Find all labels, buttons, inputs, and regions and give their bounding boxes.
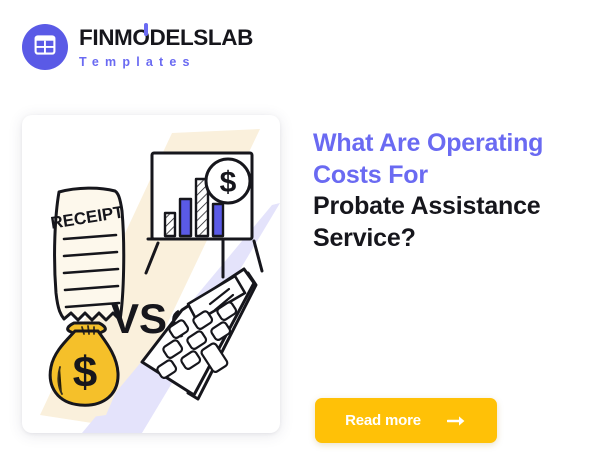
read-more-label: Read more	[345, 412, 421, 429]
svg-text:$: $	[73, 348, 97, 397]
brand-text-block: FINMODELSLAB Templates	[79, 27, 253, 68]
power-accent-icon	[144, 23, 148, 36]
svg-text:$: $	[220, 166, 237, 199]
page-title-main: Probate Assistance Service?	[313, 191, 579, 254]
versus-label: VS	[111, 295, 167, 342]
brand-tagline: Templates	[79, 56, 253, 69]
page-title: What Are Operating Costs For Probate Ass…	[313, 128, 579, 254]
brand-name-text: FINMODELSLAB	[79, 25, 253, 50]
brand-name: FINMODELSLAB	[79, 27, 253, 50]
content-column: What Are Operating Costs For Probate Ass…	[313, 128, 579, 254]
page-title-prefix: What Are Operating Costs For	[313, 128, 579, 191]
brand-header[interactable]: FINMODELSLAB Templates	[22, 24, 253, 70]
illustration-card: $ RECEIPT VS $	[22, 115, 280, 433]
read-more-button[interactable]: Read more	[315, 398, 497, 443]
grid-icon	[34, 34, 56, 61]
arrow-right-icon	[447, 414, 467, 428]
brand-logo-circle	[22, 24, 68, 70]
operating-costs-illustration: $ RECEIPT VS $	[22, 115, 280, 433]
